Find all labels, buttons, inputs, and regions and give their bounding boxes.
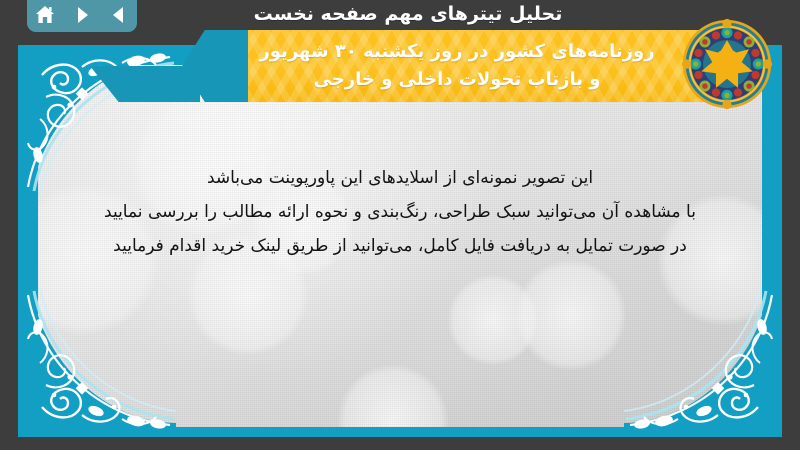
- home-button[interactable]: [32, 2, 58, 28]
- ribbon-banner: [248, 30, 720, 102]
- slide-viewer: این تصویر نمونه‌ای از اسلایدهای این پاور…: [0, 0, 800, 450]
- slide-frame: این تصویر نمونه‌ای از اسلایدهای این پاور…: [18, 45, 782, 437]
- slide-text-line: در صورت تمایل به دریافت فایل کامل، می‌تو…: [78, 229, 722, 263]
- bokeh-circle: [516, 260, 626, 370]
- previous-slide-button[interactable]: [106, 2, 132, 28]
- page-title: تحلیل تیترهای مهم صفحه نخست: [128, 2, 688, 26]
- next-slide-button[interactable]: [69, 2, 95, 28]
- slide-canvas: این تصویر نمونه‌ای از اسلایدهای این پاور…: [38, 65, 762, 427]
- slide-body-text: این تصویر نمونه‌ای از اسلایدهای این پاور…: [78, 161, 722, 263]
- triangle-left-icon: [109, 5, 129, 25]
- triangle-right-icon: [72, 5, 92, 25]
- home-icon: [34, 4, 56, 26]
- slide-navigation-bar: [27, 0, 137, 32]
- slide-text-line: این تصویر نمونه‌ای از اسلایدهای این پاور…: [78, 161, 722, 195]
- bokeh-circle: [338, 365, 448, 427]
- slide-text-line: با مشاهده آن می‌توانید سبک طراحی، رنگ‌بن…: [78, 195, 722, 229]
- bokeh-circle: [448, 275, 538, 365]
